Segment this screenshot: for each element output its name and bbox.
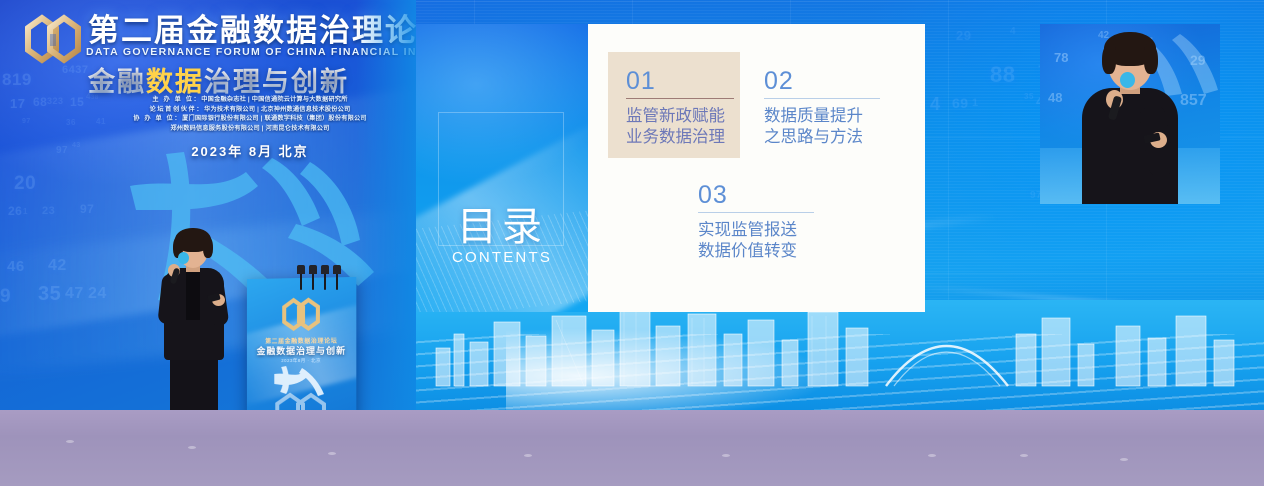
poster-credit-value: 厦门国际银行股份有限公司 | 联通数字科技（集团）股份有限公司 bbox=[182, 115, 367, 122]
microphone-stand-head bbox=[309, 265, 317, 274]
floor-marker bbox=[1020, 454, 1028, 457]
floor-marker bbox=[1120, 458, 1128, 461]
background-number: 36 bbox=[66, 118, 76, 127]
speaker-hair-side bbox=[203, 236, 213, 258]
background-number: 23 bbox=[42, 205, 55, 217]
floor-marker bbox=[928, 454, 936, 457]
slide-contents-panel: 01 监管新政赋能 业务数据治理 02 数据质量提升 之思路与方法 03 实现监… bbox=[588, 24, 925, 312]
toc-item-03-text: 实现监管报送 数据价值转变 bbox=[698, 219, 814, 261]
background-number: 1 bbox=[23, 207, 28, 216]
poster-credit-line: 主 办 单 位：中国金融杂志社 | 中国信通院云计算与大数据研究所 bbox=[100, 95, 400, 105]
poster-credit-value: 中国金融杂志社 | 中国信通院云计算与大数据研究所 bbox=[201, 96, 347, 103]
microphone-stand-head bbox=[321, 265, 329, 274]
speaker-hair-side bbox=[1102, 44, 1116, 74]
toc-item-01[interactable]: 01 监管新政赋能 业务数据治理 bbox=[626, 68, 734, 147]
speaker-hair-side bbox=[1144, 44, 1158, 74]
stage-floor bbox=[0, 410, 1264, 486]
toc-item-03-number: 03 bbox=[698, 182, 814, 208]
poster-theme: 金融数据治理与创新 bbox=[88, 60, 349, 99]
microphone-stand-head bbox=[333, 265, 341, 274]
microphone-head bbox=[178, 252, 189, 264]
toc-item-03-rule bbox=[698, 212, 814, 213]
background-number: 15 bbox=[70, 95, 84, 109]
city-skyline-svg bbox=[416, 300, 1264, 410]
poster-credit-value: 华为技术有限公司 | 北京神州数通信息技术股份公司 bbox=[204, 106, 350, 113]
poster-credits: 主 办 单 位：中国金融杂志社 | 中国信通院云计算与大数据研究所论坛首创伙伴：… bbox=[100, 95, 400, 133]
background-number: 42 bbox=[48, 257, 67, 275]
poster-date: 2023年 8月 北京 bbox=[100, 141, 400, 160]
background-number: 20 bbox=[14, 173, 36, 195]
floor-marker bbox=[524, 454, 532, 457]
conference-stage-photo: 8878233129469135481585729457397386 bbox=[0, 0, 1264, 486]
toc-item-02-text: 数据质量提升 之思路与方法 bbox=[764, 105, 880, 147]
background-number: 9 bbox=[0, 286, 11, 308]
floor-marker bbox=[188, 446, 196, 449]
poster-credit-label: 论坛首创伙伴： bbox=[150, 106, 205, 113]
background-number: 43 bbox=[72, 142, 81, 149]
poster-credit-label: 主 办 单 位： bbox=[152, 96, 201, 103]
hexagon-knot-logo-icon bbox=[280, 296, 322, 335]
poster-credit-label: 协 办 单 位： bbox=[133, 115, 182, 122]
toc-item-02-rule bbox=[764, 98, 880, 99]
speaker-closeup-figure bbox=[1040, 24, 1220, 204]
background-number: 46 bbox=[7, 258, 25, 275]
toc-item-02[interactable]: 02 数据质量提升 之思路与方法 bbox=[764, 68, 880, 147]
background-number: 819 bbox=[2, 70, 32, 90]
speaker-closeup-video-inset: 78 29 48 857 42 5 973 bbox=[1040, 24, 1220, 204]
poster-edge-fade bbox=[356, 0, 416, 410]
poster-credit-line: 协 办 单 位：厦门国际银行股份有限公司 | 联通数字科技（集团）股份有限公司 bbox=[100, 114, 400, 124]
slide-left-panel: 目录 CONTENTS bbox=[416, 24, 588, 312]
background-number: 97 bbox=[80, 202, 94, 216]
background-number: 97 bbox=[56, 145, 68, 156]
toc-item-01-rule bbox=[626, 98, 734, 99]
poster-credit-line: 论坛首创伙伴：华为技术有限公司 | 北京神州数通信息技术股份公司 bbox=[100, 105, 400, 115]
toc-item-03[interactable]: 03 实现监管报送 数据价值转变 bbox=[698, 182, 814, 261]
toc-item-02-number: 02 bbox=[764, 68, 880, 94]
poster-theme-prefix: 金融 bbox=[88, 67, 146, 97]
background-number: 26 bbox=[8, 204, 22, 218]
toc-heading-cn: 目录 bbox=[416, 194, 588, 252]
cityscape-graphic bbox=[416, 300, 1264, 410]
background-number: 35 bbox=[38, 283, 61, 306]
background-number: 17 bbox=[10, 96, 25, 111]
toc-heading-en: CONTENTS bbox=[416, 249, 588, 266]
background-number: 323 bbox=[47, 96, 64, 106]
floor-marker bbox=[722, 454, 730, 457]
hexagon-knot-logo-icon bbox=[22, 12, 84, 68]
background-number: 47 bbox=[65, 285, 84, 303]
background-number: 97 bbox=[22, 118, 31, 125]
background-number: 68 bbox=[33, 95, 47, 109]
toc-item-01-text: 监管新政赋能 业务数据治理 bbox=[626, 105, 734, 147]
floor-marker bbox=[66, 440, 74, 443]
toc-item-01-number: 01 bbox=[626, 68, 734, 94]
speaker-inner-top bbox=[186, 272, 200, 320]
floor-marker bbox=[328, 452, 336, 455]
microphone-head bbox=[1120, 72, 1135, 88]
poster-theme-highlight: 数据 bbox=[146, 67, 204, 97]
poster-credit-line: 郑州数码信息服务股份有限公司 | 河南昆仑技术有限公司 bbox=[100, 124, 400, 134]
poster-credit-value: 郑州数码信息服务股份有限公司 | 河南昆仑技术有限公司 bbox=[170, 125, 329, 132]
microphone-stand-head bbox=[297, 265, 305, 274]
poster-theme-suffix: 治理与创新 bbox=[204, 67, 349, 97]
